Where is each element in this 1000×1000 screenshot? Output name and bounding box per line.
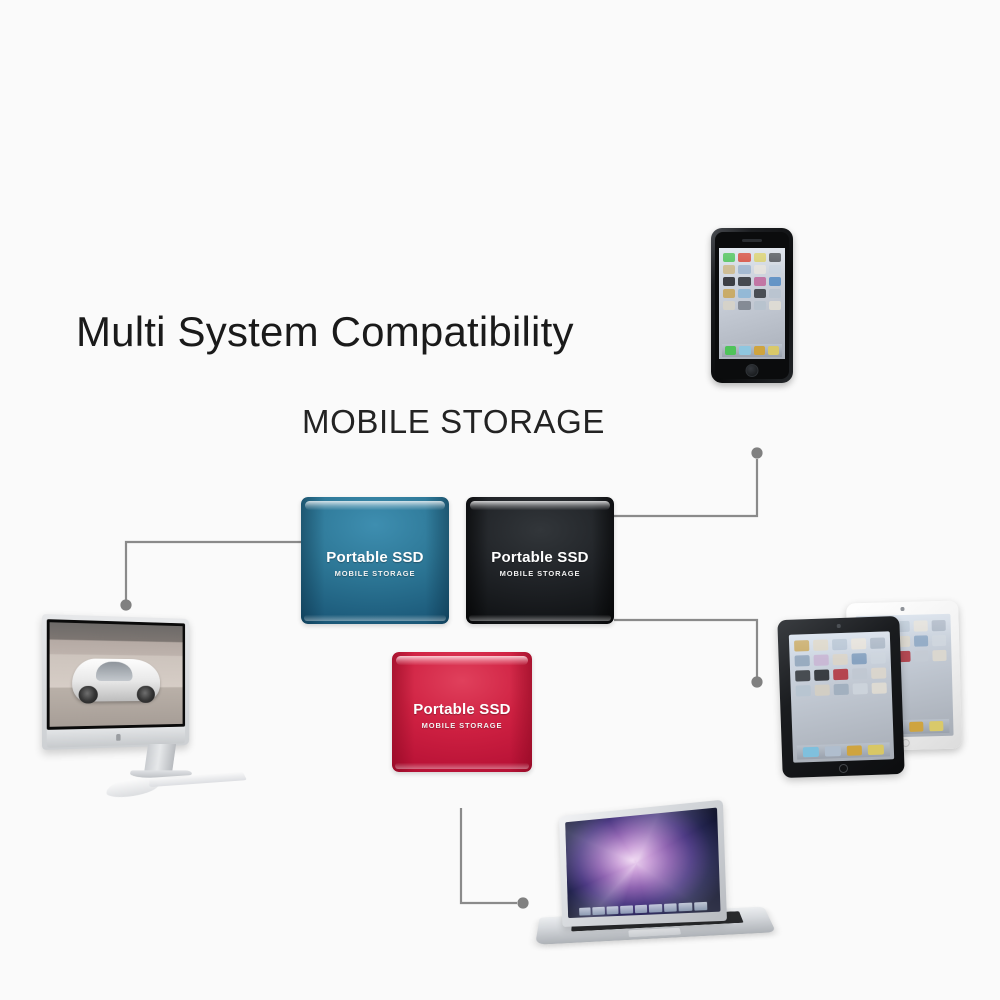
sportscar-rear-wheel: [137, 686, 155, 704]
smartphone-earpiece: [742, 239, 762, 242]
tablet-black-home-button: [839, 764, 848, 773]
sportscar-front-wheel: [79, 686, 98, 704]
desktop-display-housing: [42, 614, 189, 750]
laptop-computer: [525, 808, 771, 960]
ssd-red-top-highlight: [396, 656, 528, 665]
smartphone-dock: [722, 344, 782, 357]
smartphone: [711, 228, 793, 383]
connector-to-desktop: [120, 542, 301, 611]
laptop-lid: [559, 800, 727, 927]
desktop-wallpaper-sportscar: [72, 658, 160, 701]
connector-to-laptop: [461, 808, 529, 909]
desktop-wallpaper-racetrack: [50, 622, 183, 727]
ssd-red-label-group: Portable SSD MOBILE STORAGE: [392, 701, 532, 730]
connector-to-smartphone: [614, 447, 763, 516]
ssd-blue-bottom-highlight: [304, 615, 446, 621]
tablet-black-screen: [789, 631, 894, 762]
desktop-logo: [116, 734, 120, 741]
ssd-blue-sublabel: MOBILE STORAGE: [301, 569, 449, 578]
ssd-red-sublabel: MOBILE STORAGE: [392, 721, 532, 730]
ssd-red-bottom-highlight: [395, 763, 529, 769]
desktop-display-bezel: [47, 619, 185, 730]
portable-ssd-blue: Portable SSD MOBILE STORAGE: [301, 497, 449, 624]
ssd-red-label: Portable SSD: [392, 701, 532, 718]
laptop-trackpad: [628, 928, 681, 938]
ssd-blue-top-highlight: [305, 501, 444, 510]
ssd-black-sublabel: MOBILE STORAGE: [466, 569, 614, 578]
page-subheadline: MOBILE STORAGE: [302, 403, 605, 441]
product-marketing-image: Multi System Compatibility MOBILE STORAG…: [0, 0, 1000, 1000]
desktop-computer: [38, 608, 243, 808]
tablet-white-camera: [900, 607, 904, 611]
tablet-black-dock: [797, 742, 890, 759]
tablet-black-camera: [837, 624, 841, 628]
sportscar-cabin: [96, 662, 133, 682]
ssd-blue-label: Portable SSD: [301, 549, 449, 566]
smartphone-screen: [719, 248, 785, 359]
smartphone-home-button: [746, 364, 759, 377]
connector-to-tablets: [614, 620, 763, 688]
ssd-black-top-highlight: [470, 501, 609, 510]
page-headline: Multi System Compatibility: [76, 308, 574, 356]
ssd-black-label-group: Portable SSD MOBILE STORAGE: [466, 549, 614, 578]
portable-ssd-black: Portable SSD MOBILE STORAGE: [466, 497, 614, 624]
tablet-pair: [776, 596, 964, 764]
ssd-black-label: Portable SSD: [466, 549, 614, 566]
laptop-screen: [565, 808, 720, 919]
ssd-blue-label-group: Portable SSD MOBILE STORAGE: [301, 549, 449, 578]
tablet-black-screen-glare: [789, 631, 894, 718]
ssd-black-bottom-highlight: [469, 615, 611, 621]
portable-ssd-red: Portable SSD MOBILE STORAGE: [392, 652, 532, 772]
tablet-black: [777, 616, 904, 778]
